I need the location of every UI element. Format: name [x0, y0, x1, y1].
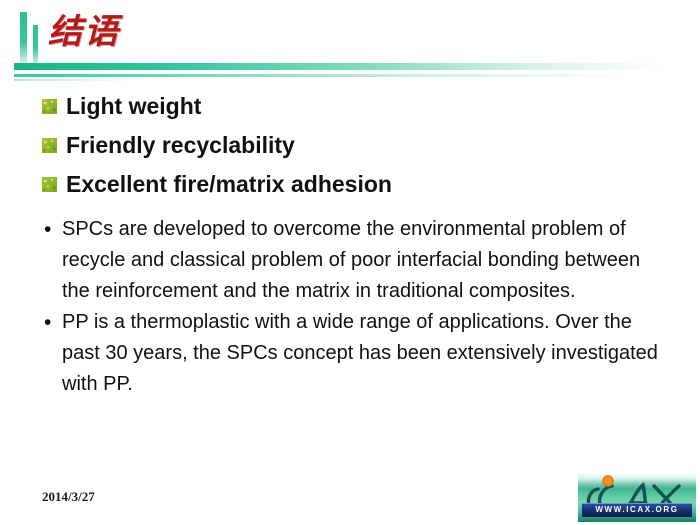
round-bullet-icon: • — [40, 214, 62, 245]
accent-vertical-bar-short — [33, 25, 38, 67]
heading-list-item: Light weight — [42, 92, 662, 131]
body-bullet-list: • SPCs are developed to overcome the env… — [40, 214, 665, 400]
accent-rule-secondary — [14, 74, 664, 77]
heading-list-item-label: Excellent fire/matrix adhesion — [66, 170, 392, 199]
heading-list-item: Friendly recyclability — [42, 131, 662, 170]
heading-list-item-label: Light weight — [66, 92, 201, 121]
logo-url-bar: WWW.ICAX.ORG — [582, 503, 692, 517]
heading-list-item-label: Friendly recyclability — [66, 131, 295, 160]
accent-rule-tertiary — [14, 79, 134, 81]
green-square-bullet-icon — [42, 138, 57, 153]
accent-vertical-bar-tall — [20, 12, 27, 67]
icax-logo[interactable]: 25 WWW.ICAX.ORG — [578, 472, 696, 522]
body-bullet-text: SPCs are developed to overcome the envir… — [62, 214, 665, 307]
accent-rule-primary — [14, 63, 684, 70]
round-bullet-icon: • — [40, 307, 62, 338]
body-bullet-item: • SPCs are developed to overcome the env… — [40, 214, 665, 307]
heading-list: Light weight Friendly recyclability Exce… — [42, 92, 662, 209]
slide-title: 结语 — [48, 11, 120, 55]
green-square-bullet-icon — [42, 99, 57, 114]
footer-date: 2014/3/27 — [42, 489, 95, 505]
body-bullet-text: PP is a thermoplastic with a wide range … — [62, 307, 665, 400]
slide-canvas: 结语 Light weight Friendly recyclability E… — [0, 0, 700, 525]
green-square-bullet-icon — [42, 177, 57, 192]
heading-list-item: Excellent fire/matrix adhesion — [42, 170, 662, 209]
body-bullet-item: • PP is a thermoplastic with a wide rang… — [40, 307, 665, 400]
